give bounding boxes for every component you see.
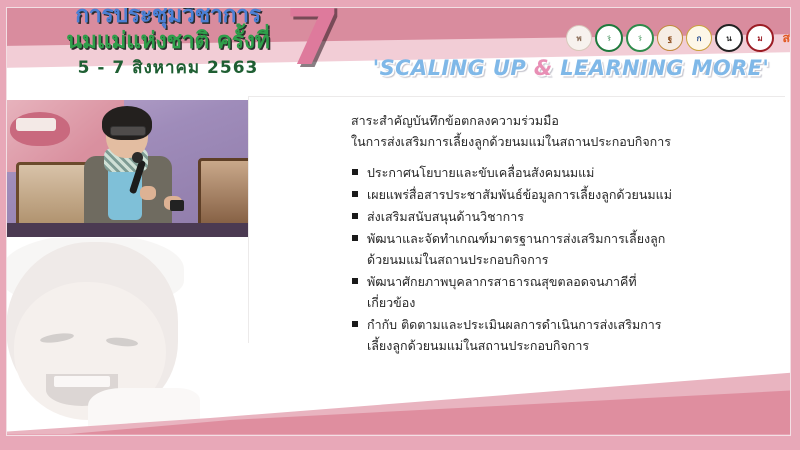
frame-border-top [0,0,800,7]
frame-border-bottom [0,436,800,450]
bullet-square-icon [352,321,358,327]
video-stage-floor [6,223,248,237]
bullet-text-line1: กำกับ ติดตามและประเมินผลการดำเนินการส่งเ… [367,317,662,332]
bullet-text-line1: ประกาศนโยบายและขับเคลื่อนสังคมนมแม่ [367,165,594,180]
frame-border-left [0,0,6,450]
tagline-suffix: LEARNING MORE' [553,56,770,80]
baby-watermark-image [0,238,200,436]
conference-title-line2: นมแม่แห่งชาติ ครั้งที่ [18,28,318,54]
conference-tagline: 'SCALING UP & LEARNING MORE' [356,56,786,80]
body-heading-line-1: สาระสำคัญบันทึกข้อตกลงความร่วมมือ [351,110,771,131]
bullet-square-icon [352,278,358,284]
edition-number: 7 [285,0,341,80]
presenter-remote-icon [170,200,184,211]
baby-teeth [54,376,110,387]
frame-border-right [791,0,800,450]
partner-logo-row: พ ⚕ ⚕ ฐ ก น ม สสส [566,24,800,52]
bullet-text-line2: ด้วยนมแม่ในสถานประกอบกิจการ [367,249,771,270]
conference-date: 5 - 7 สิงหาคม 2563 [18,56,318,80]
logo-royal-thai-emblem-icon: ฐ [657,25,683,51]
logo-department-of-health-icon: ⚕ [626,24,654,52]
bullet-text-line1: ส่งเสริมสนับสนุนด้านวิชาการ [367,209,524,224]
list-item: พัฒนาศักยภาพบุคลากรสาธารณสุขตลอดจนภาคีที… [351,271,771,313]
logo-thai-breastfeeding-center-icon: น [715,24,743,52]
microphone-head-icon [132,152,143,163]
conference-title-block: การประชุมวิชาการ นมแม่แห่งชาติ ครั้งที่ … [18,2,318,80]
list-item: ส่งเสริมสนับสนุนด้านวิชาการ [351,206,771,227]
tagline-prefix: 'SCALING UP [373,56,534,80]
bullet-text-line2: เลี้ยงลูกด้วยนมแม่ในสถานประกอบกิจการ [367,335,771,356]
logo-ministry-of-public-health-icon: ⚕ [595,24,623,52]
list-item: ประกาศนโยบายและขับเคลื่อนสังคมนมแม่ [351,162,771,183]
tagline-ampersand: & [534,56,553,80]
list-item: พัฒนาและจัดทำเกณฑ์มาตรฐานการส่งเสริมการเ… [351,228,771,270]
list-item: กำกับ ติดตามและประเมินผลการดำเนินการส่งเ… [351,314,771,356]
bullet-square-icon [352,213,358,219]
bullet-square-icon [352,169,358,175]
bullet-text-line1: พัฒนาและจัดทำเกณฑ์มาตรฐานการส่งเสริมการเ… [367,231,665,246]
bullet-square-icon [352,235,358,241]
speaker-presentation-video [6,100,248,237]
bullet-text-line1: เผยแพร่สื่อสารประชาสัมพันธ์ข้อมูลการเลี้… [367,187,672,202]
speaker-hand-left [140,186,156,200]
body-heading-line-2: ในการส่งเสริมการเลี้ยงลูกด้วยนมแม่ในสถาน… [351,131,771,152]
slide-body-text: สาระสำคัญบันทึกข้อตกลงความร่วมมือ ในการส… [351,110,771,357]
list-item: เผยแพร่สื่อสารประชาสัมพันธ์ข้อมูลการเลี้… [351,184,771,205]
speaker-glasses-icon [110,126,146,136]
presentation-slide: การประชุมวิชาการ นมแม่แห่งชาติ ครั้งที่ … [0,0,800,450]
poster-teeth-shape [16,118,56,131]
logo-hrh-princess-emblem-icon: พ [566,25,592,51]
bullet-square-icon [352,191,358,197]
logo-garuda-emblem-icon: ก [686,25,712,51]
logo-university-emblem-icon: ม [746,24,774,52]
bullet-text-line2: เกี่ยวข้อง [367,292,771,313]
bullet-list: ประกาศนโยบายและขับเคลื่อนสังคมนมแม่ เผยแ… [351,162,771,356]
bullet-text-line1: พัฒนาศักยภาพบุคลากรสาธารณสุขตลอดจนภาคีที… [367,274,637,289]
